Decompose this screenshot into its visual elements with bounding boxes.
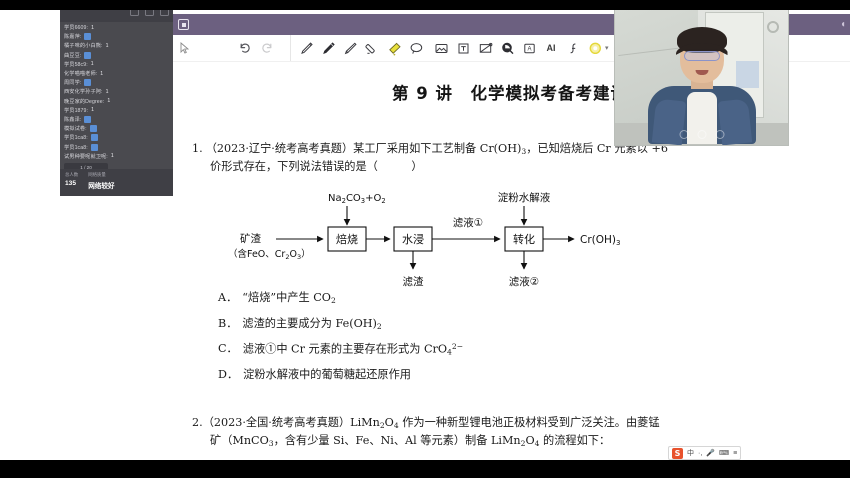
participant-count: 1 [100, 71, 103, 77]
option-b-letter: B． [218, 317, 237, 330]
option-b-text: 滤渣的主要成分为 Fe(OH) [242, 317, 377, 330]
history-tools[interactable] [234, 35, 278, 61]
participant-row[interactable]: 周同学: [64, 78, 169, 87]
flow-down-2: 滤液② [509, 275, 539, 288]
flow-input-line1: 矿渣 [240, 232, 261, 245]
process-flow-diagram: 矿渣 （含FeO、Cr2O3） 焙烧 Na2CO3+O2 水浸 滤渣 滤液① [228, 187, 638, 295]
flow-box-3: 转化 [513, 232, 535, 246]
participant-award-icon [91, 144, 98, 151]
question-2-number: 2. [192, 416, 203, 429]
participant-count: 1 [91, 107, 94, 113]
keyboard-icon[interactable]: ⌨ [719, 449, 729, 457]
participant-row[interactable]: 模拟试卷: [64, 124, 169, 133]
question-1-line-2: 价形式存在，下列说法错误的是（ ） [210, 158, 822, 176]
magnifier-icon[interactable] [496, 37, 518, 59]
ime-mode-icon[interactable]: 中 [687, 448, 694, 458]
option-c-text: 滤液①中 Cr 元素的主要存在形式为 CrO [243, 342, 447, 355]
glasses-icon [684, 51, 720, 61]
participant-name: 学员1ca8: [64, 134, 88, 141]
mic-icon[interactable] [679, 130, 688, 139]
participant-row[interactable]: 学员6609:1 [64, 23, 169, 32]
participant-name: 曲豆豆: [64, 52, 81, 59]
video-controls[interactable] [679, 130, 724, 139]
question-1-number: 1. [192, 142, 203, 155]
courseware-collapse-icon[interactable]: ◖ [840, 20, 846, 30]
option-b: B．滤渣的主要成分为 Fe(OH)2 [218, 318, 463, 331]
screen-root: ◖ [0, 0, 850, 478]
settings-icon[interactable] [715, 130, 724, 139]
participant-name: 陈嘉萍: [64, 33, 81, 40]
letterbox-top [0, 0, 850, 10]
participant-row[interactable]: 陈嘉萍: [64, 32, 169, 41]
pen-bold-icon[interactable] [317, 37, 339, 59]
participant-name: 学员1879: [64, 107, 88, 114]
participant-name: 化学喵喵老师: [64, 70, 97, 77]
spotlight-icon[interactable]: A [518, 37, 540, 59]
option-a: A．“焙烧”中产生 CO2 [218, 292, 463, 305]
participant-row[interactable]: 学员1ca8: [64, 142, 169, 151]
participant-award-icon [84, 33, 91, 40]
teacher-video-feed[interactable] [614, 8, 789, 146]
option-c: C．滤液①中 Cr 元素的主要存在形式为 CrO42− [218, 343, 463, 356]
participant-name: 试男种要呢就卫呢: [64, 153, 108, 160]
participant-row[interactable]: 曲豆豆: [64, 51, 169, 60]
shape-icon[interactable] [474, 37, 496, 59]
pointer-icon[interactable] [170, 42, 198, 54]
participant-award-icon [84, 52, 91, 59]
participant-row[interactable]: 试男种要呢就卫呢:1 [64, 152, 169, 161]
pen-thin-icon[interactable] [295, 37, 317, 59]
option-c-sup: 2− [452, 342, 463, 351]
participant-count: 1 [106, 89, 109, 95]
participant-count: 1 [106, 43, 109, 49]
image-icon[interactable] [430, 37, 452, 59]
question-1-text-a: （2023·辽宁·统考高考真题）某工厂采用如下工艺制备 Cr(OH) [206, 142, 522, 155]
color-picker-icon[interactable] [584, 37, 606, 59]
participant-row[interactable]: 西安化学孙子阿:1 [64, 87, 169, 96]
lasso-select-icon[interactable] [405, 37, 427, 59]
option-a-letter: A． [218, 291, 237, 304]
participant-count: 1 [111, 153, 114, 159]
participant-name: 学员1ca8: [64, 144, 88, 151]
text-box-icon[interactable] [452, 37, 474, 59]
participant-count: 1 [107, 98, 110, 104]
pencil-icon[interactable] [339, 37, 361, 59]
option-d-text: 淀粉水解液中的葡萄糖起还原作用 [243, 368, 411, 381]
question-2-line-1: 2.（2023·全国·统考高考真题）LiMn2O4 作为一种新型锂电池正极材料受… [192, 414, 822, 432]
participant-row[interactable]: 陈鑫泽: [64, 115, 169, 124]
letterbox-top-left [0, 0, 60, 10]
stat-total-count: 总人数 135 [65, 172, 78, 193]
participant-name: 陈鑫泽: [64, 116, 81, 123]
video-poster [736, 61, 758, 88]
flow-input-line2: （含FeO、Cr2O3） [228, 248, 311, 261]
question-1-options: A．“焙烧”中产生 CO2 B．滤渣的主要成分为 Fe(OH)2 C．滤液①中 … [218, 292, 463, 393]
flow-reagent-2: 淀粉水解液 [498, 191, 551, 204]
participants-panel[interactable]: 学员6609:1陈嘉萍:橘子味的小白熊:1曲豆豆:学员58c9:1化学喵喵老师:… [60, 0, 173, 196]
participant-row[interactable]: 晚豆家的Degree:1 [64, 97, 169, 106]
question-2: 2.（2023·全国·统考高考真题）LiMn2O4 作为一种新型锂电池正极材料受… [192, 414, 822, 449]
ai-icon[interactable]: AI [540, 37, 562, 59]
flow-output: Cr(OH)3 [580, 234, 620, 247]
courseware-app-icon [178, 19, 189, 30]
option-d: D．淀粉水解液中的葡萄糖起还原作用 [218, 369, 463, 380]
mic-icon[interactable]: 🎤 [706, 449, 715, 457]
highlighter-icon[interactable] [361, 37, 383, 59]
pen-tools[interactable] [290, 35, 427, 61]
participant-row[interactable]: 橘子味的小白熊:1 [64, 41, 169, 50]
participants-stats: 总人数 135 网络质量 网络较好 [60, 169, 173, 196]
participant-row[interactable]: 学员1ca8: [64, 133, 169, 142]
participants-list[interactable]: 学员6609:1陈嘉萍:橘子味的小白熊:1曲豆豆:学员58c9:1化学喵喵老师:… [60, 22, 173, 161]
flow-mid-label: 滤液① [453, 216, 483, 229]
redo-icon[interactable] [256, 37, 278, 59]
flow-box-1: 焙烧 [336, 232, 358, 246]
participant-row[interactable]: 化学喵喵老师:1 [64, 69, 169, 78]
letterbox-bottom [0, 460, 850, 478]
undo-icon[interactable] [234, 37, 256, 59]
flow-reagent-1: Na2CO3+O2 [328, 193, 386, 205]
participant-name: 橘子味的小白熊: [64, 42, 103, 49]
sogou-ime-toolbar[interactable]: S 中 ·, 🎤 ⌨ ≡ [668, 446, 741, 460]
participant-name: 周同学: [64, 79, 81, 86]
option-d-letter: D． [218, 368, 238, 381]
participant-row[interactable]: 学员58c9:1 [64, 60, 169, 69]
participant-name: 西安化学孙子阿: [64, 88, 103, 95]
svg-text:A: A [527, 46, 531, 52]
participant-award-icon [84, 116, 91, 123]
option-b-sub: 2 [377, 321, 382, 330]
sogou-logo-icon[interactable]: S [672, 448, 683, 459]
participant-name: 晚豆家的Degree: [64, 98, 104, 105]
eraser-icon[interactable] [383, 37, 405, 59]
participant-award-icon [91, 134, 98, 141]
courseware-window-controls[interactable]: ◖ [840, 20, 846, 30]
stat-network-quality: 网络质量 网络较好 [88, 172, 114, 193]
option-a-text: “焙烧”中产生 CO [242, 291, 331, 304]
participant-row[interactable]: 学员1879:1 [64, 106, 169, 115]
participant-count: 1 [91, 25, 94, 31]
question-2-text-a: （2023·全国·统考高考真题）LiMn [203, 416, 380, 429]
participant-name: 模拟试卷: [64, 125, 87, 132]
menu-icon[interactable]: ≡ [733, 450, 737, 457]
ime-punctuation-icon[interactable]: ·, [698, 450, 702, 457]
flow-down-1: 滤渣 [403, 275, 424, 288]
camera-icon[interactable] [697, 130, 706, 139]
option-c-letter: C． [218, 342, 238, 355]
participant-award-icon [84, 79, 91, 86]
formula-icon[interactable] [562, 37, 584, 59]
flow-box-2: 水浸 [402, 233, 424, 246]
participant-name: 学员6609: [64, 24, 88, 31]
participant-count: 1 [91, 61, 94, 67]
option-a-sub: 2 [331, 296, 336, 305]
participant-name: 学员58c9: [64, 61, 88, 68]
participant-award-icon [90, 125, 97, 132]
